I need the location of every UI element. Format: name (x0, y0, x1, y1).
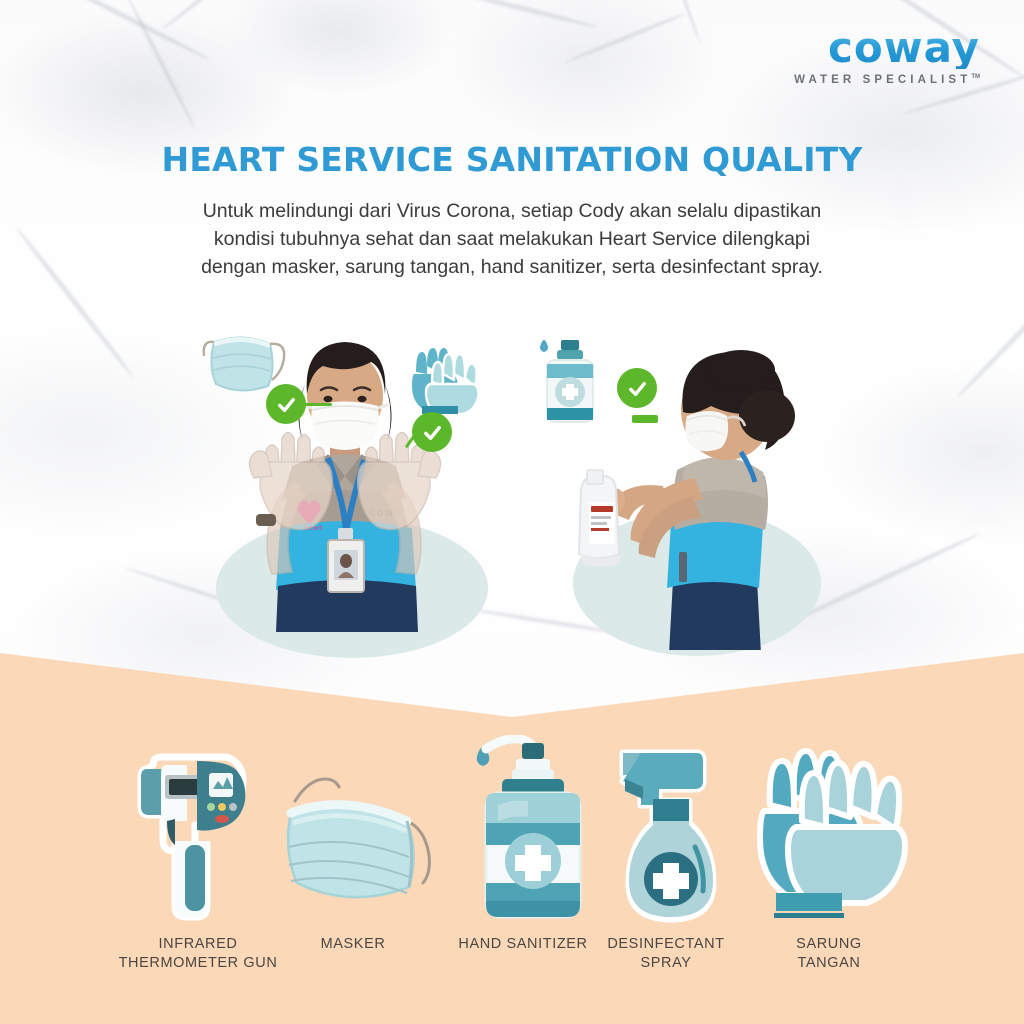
surgical-mask-icon (269, 765, 437, 925)
equipment-label: SARUNG TANGAN (744, 935, 914, 973)
cody-disinfectant-photo (545, 330, 845, 650)
check-sanitizer-badge (617, 368, 657, 408)
brand-name: coway (794, 27, 980, 69)
brand-tagline-text: WATER SPECIALIST (794, 74, 971, 86)
gloves-icon (408, 346, 486, 418)
equipment-label: HAND SANITIZER (440, 935, 606, 954)
equipment-label: MASKER (268, 935, 438, 954)
equipment-item-spray: DESINFECTANT SPRAY (596, 743, 736, 973)
intro-paragraph: Untuk melindungi dari Virus Corona, seti… (182, 197, 842, 281)
equipment-label: INFRARED THERMOMETER GUN (108, 935, 288, 973)
equipment-list: INFRARED THERMOMETER GUN MASKER (0, 735, 1024, 1024)
check-gloves-badge (412, 412, 452, 452)
equipment-item-sanitizer: HAND SANITIZER (440, 735, 606, 954)
cody-gloves-mask-photo: heart cowa (208, 318, 498, 648)
trademark-mark: TM (971, 74, 980, 80)
equipment-item-mask: MASKER (268, 757, 438, 954)
check-stem (304, 403, 332, 406)
thermometer-gun-icon (123, 745, 273, 925)
gloves-icon (744, 743, 914, 925)
spray-bottle-icon (601, 743, 731, 925)
check-stem (632, 415, 658, 423)
equipment-label: DESINFECTANT SPRAY (596, 935, 736, 973)
poster-canvas: coway WATER SPECIALISTTM HEART SERVICE S… (0, 0, 1024, 1024)
sanitizer-bottle-icon (517, 334, 603, 430)
check-mask-badge (266, 384, 306, 424)
page-title: HEART SERVICE SANITATION QUALITY (0, 140, 1024, 179)
hand-sanitizer-icon (458, 735, 588, 925)
brand-tagline: WATER SPECIALISTTM (794, 74, 980, 86)
coway-logo: coway WATER SPECIALISTTM (794, 27, 980, 86)
equipment-item-gloves: SARUNG TANGAN (744, 743, 914, 973)
equipment-item-thermometer: INFRARED THERMOMETER GUN (108, 745, 288, 973)
